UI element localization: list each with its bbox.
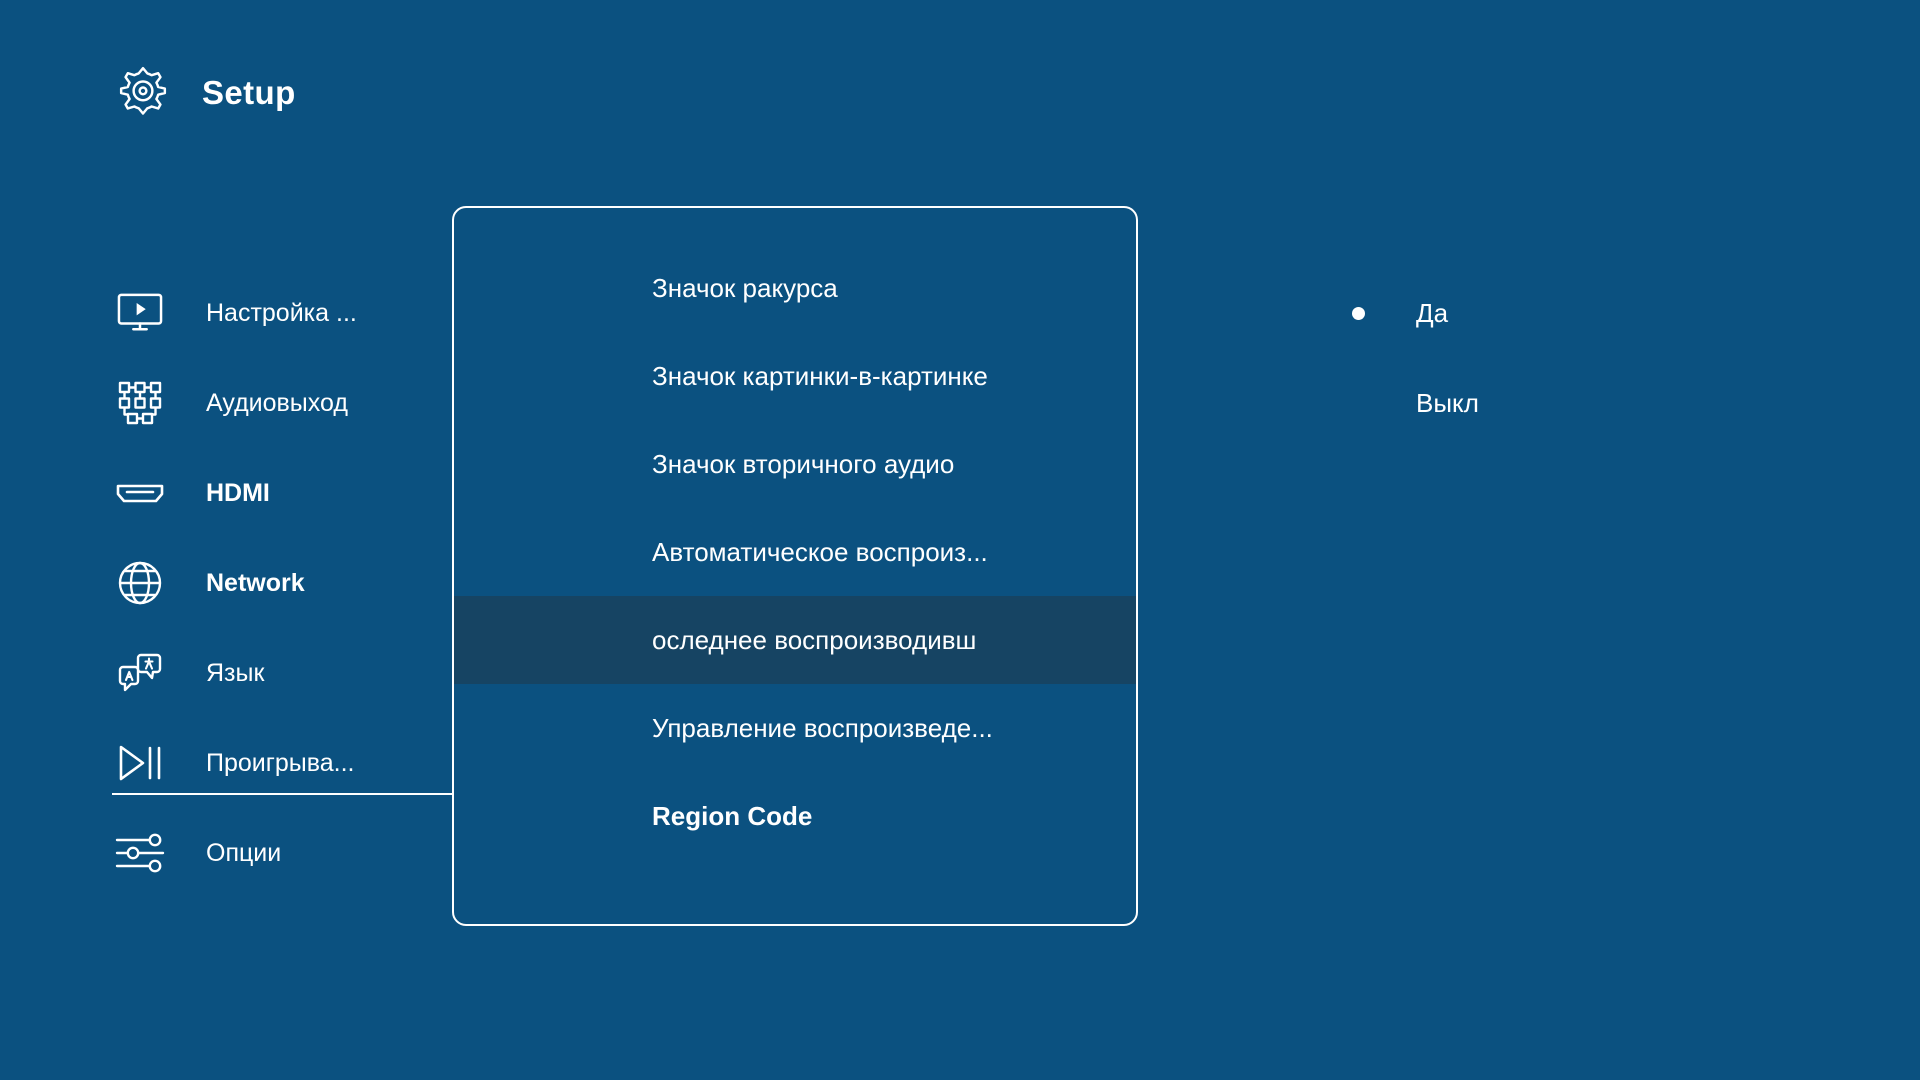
dialog-item-label: Region Code bbox=[652, 801, 812, 832]
sidebar-item-label: HDMI bbox=[206, 479, 270, 508]
dialog-list-item[interactable]: Значок картинки-в-картинке bbox=[454, 332, 1136, 420]
dialog-item-label: Автоматическое воспроиз... bbox=[652, 537, 988, 568]
dialog-list-item[interactable]: Автоматическое воспроиз... bbox=[454, 508, 1136, 596]
sidebar-item-label: Настройка ... bbox=[206, 299, 357, 328]
sidebar-item-display[interactable]: Настройка ... bbox=[112, 268, 457, 358]
sidebar-item-options[interactable]: Опции bbox=[112, 808, 457, 898]
dialog-list-item-selected[interactable]: оследнее воспроизводивш bbox=[454, 596, 1136, 684]
sliders-icon bbox=[112, 825, 168, 881]
dialog-item-label: Управление воспроизведе... bbox=[652, 713, 993, 744]
sidebar-item-audio-output[interactable]: Аудиовыход bbox=[112, 358, 457, 448]
sidebar-item-language[interactable]: Язык bbox=[112, 628, 457, 718]
dialog-list-item[interactable]: Управление воспроизведе... bbox=[454, 684, 1136, 772]
dialog-item-label: Значок картинки-в-картинке bbox=[652, 361, 988, 392]
display-play-icon bbox=[112, 285, 168, 341]
radio-unselected-icon bbox=[1330, 397, 1386, 410]
sidebar-item-label: Network bbox=[206, 569, 305, 598]
radio-selected-icon bbox=[1330, 307, 1386, 320]
dialog-list-item[interactable]: Region Code bbox=[454, 772, 1136, 860]
hdmi-port-icon bbox=[112, 465, 168, 521]
dialog-list-item[interactable]: Значок вторичного аудио bbox=[454, 420, 1136, 508]
translate-speech-bubbles-icon bbox=[112, 645, 168, 701]
sidebar-divider bbox=[112, 793, 452, 795]
option-row-yes[interactable]: Да bbox=[1330, 268, 1750, 358]
play-pause-icon bbox=[112, 735, 168, 791]
sidebar-item-hdmi[interactable]: HDMI bbox=[112, 448, 457, 538]
sidebar-item-label: Язык bbox=[206, 659, 264, 688]
page-header: Setup bbox=[112, 62, 296, 124]
option-label: Выкл bbox=[1416, 388, 1479, 419]
sidebar-item-network[interactable]: Network bbox=[112, 538, 457, 628]
sidebar-item-label: Проигрыва... bbox=[206, 749, 354, 778]
settings-dialog-panel: Значок ракурса Значок картинки-в-картинк… bbox=[452, 206, 1138, 926]
sidebar-item-label: Опции bbox=[206, 839, 281, 868]
dialog-item-label: оследнее воспроизводивш bbox=[652, 625, 976, 656]
option-row-off[interactable]: Выкл bbox=[1330, 358, 1750, 448]
dialog-list-item[interactable]: Значок ракурса bbox=[454, 244, 1136, 332]
gear-icon bbox=[112, 62, 174, 124]
dialog-item-label: Значок ракурса bbox=[652, 273, 838, 304]
audio-channel-grid-icon bbox=[112, 375, 168, 431]
page-title: Setup bbox=[202, 74, 296, 112]
sidebar-item-label: Аудиовыход bbox=[206, 389, 348, 418]
value-options-panel: Да Выкл bbox=[1330, 268, 1750, 448]
dialog-item-label: Значок вторичного аудио bbox=[652, 449, 954, 480]
dialog-option-list: Значок ракурса Значок картинки-в-картинк… bbox=[454, 208, 1136, 860]
settings-sidebar: Настройка ... Аудиовыход HDMI bbox=[112, 268, 457, 898]
option-label: Да bbox=[1416, 298, 1448, 329]
globe-icon bbox=[112, 555, 168, 611]
